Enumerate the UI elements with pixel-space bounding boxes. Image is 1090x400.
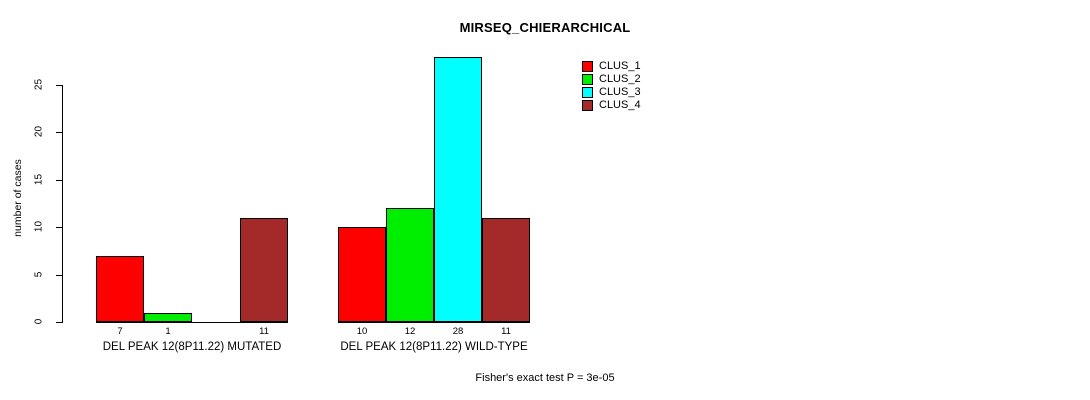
chart-title: MIRSEQ_CHIERARCHICAL <box>0 20 1090 35</box>
bar-chart-plot: MIRSEQ_CHIERARCHICAL number of cases 051… <box>0 0 1090 400</box>
group-baseline <box>338 322 530 323</box>
legend-item: CLUS_4 <box>582 99 641 112</box>
legend-item-label: CLUS_1 <box>599 61 641 72</box>
y-tick-mark <box>56 322 62 323</box>
bar <box>338 227 386 322</box>
bar-value-label: 12 <box>386 326 434 337</box>
bar-value-label: 11 <box>482 326 530 337</box>
legend-item-label: CLUS_3 <box>599 87 641 98</box>
statistical-annotation: Fisher's exact test P = 3e-05 <box>0 372 1090 384</box>
legend-color-swatch <box>582 74 593 85</box>
y-tick-mark <box>56 85 62 86</box>
y-tick-label: 25 <box>34 72 45 98</box>
group-baseline <box>96 322 288 323</box>
legend-item-label: CLUS_4 <box>599 100 641 111</box>
y-tick-mark <box>56 227 62 228</box>
legend-item: CLUS_3 <box>582 86 641 99</box>
bar <box>434 57 482 322</box>
chart-legend: CLUS_1CLUS_2CLUS_3CLUS_4 <box>582 60 641 112</box>
y-tick-mark <box>56 132 62 133</box>
y-tick-label: 10 <box>34 214 45 240</box>
y-tick-label: 0 <box>34 309 45 335</box>
bar <box>482 218 530 322</box>
bar-value-label: 28 <box>434 326 482 337</box>
bar <box>96 256 144 322</box>
bar-value-label: 10 <box>338 326 386 337</box>
legend-color-swatch <box>582 61 593 72</box>
group-axis-label: DEL PEAK 12(8P11.22) WILD-TYPE <box>284 341 584 353</box>
legend-item: CLUS_2 <box>582 73 641 86</box>
y-tick-mark <box>56 180 62 181</box>
y-tick-label: 15 <box>34 166 45 192</box>
y-tick-mark <box>56 275 62 276</box>
legend-item-label: CLUS_2 <box>599 74 641 85</box>
y-tick-label: 5 <box>34 261 45 287</box>
bar <box>144 313 192 322</box>
y-axis-title: number of cases <box>12 138 24 258</box>
legend-color-swatch <box>582 87 593 98</box>
legend-item: CLUS_1 <box>582 60 641 73</box>
legend-color-swatch <box>582 100 593 111</box>
bar-value-label: 7 <box>96 326 144 337</box>
y-tick-label: 20 <box>34 119 45 145</box>
bar <box>386 208 434 322</box>
bar-value-label: 1 <box>144 326 192 337</box>
y-axis-line <box>62 85 63 323</box>
bar-value-label: 11 <box>240 326 288 337</box>
bar <box>240 218 288 322</box>
